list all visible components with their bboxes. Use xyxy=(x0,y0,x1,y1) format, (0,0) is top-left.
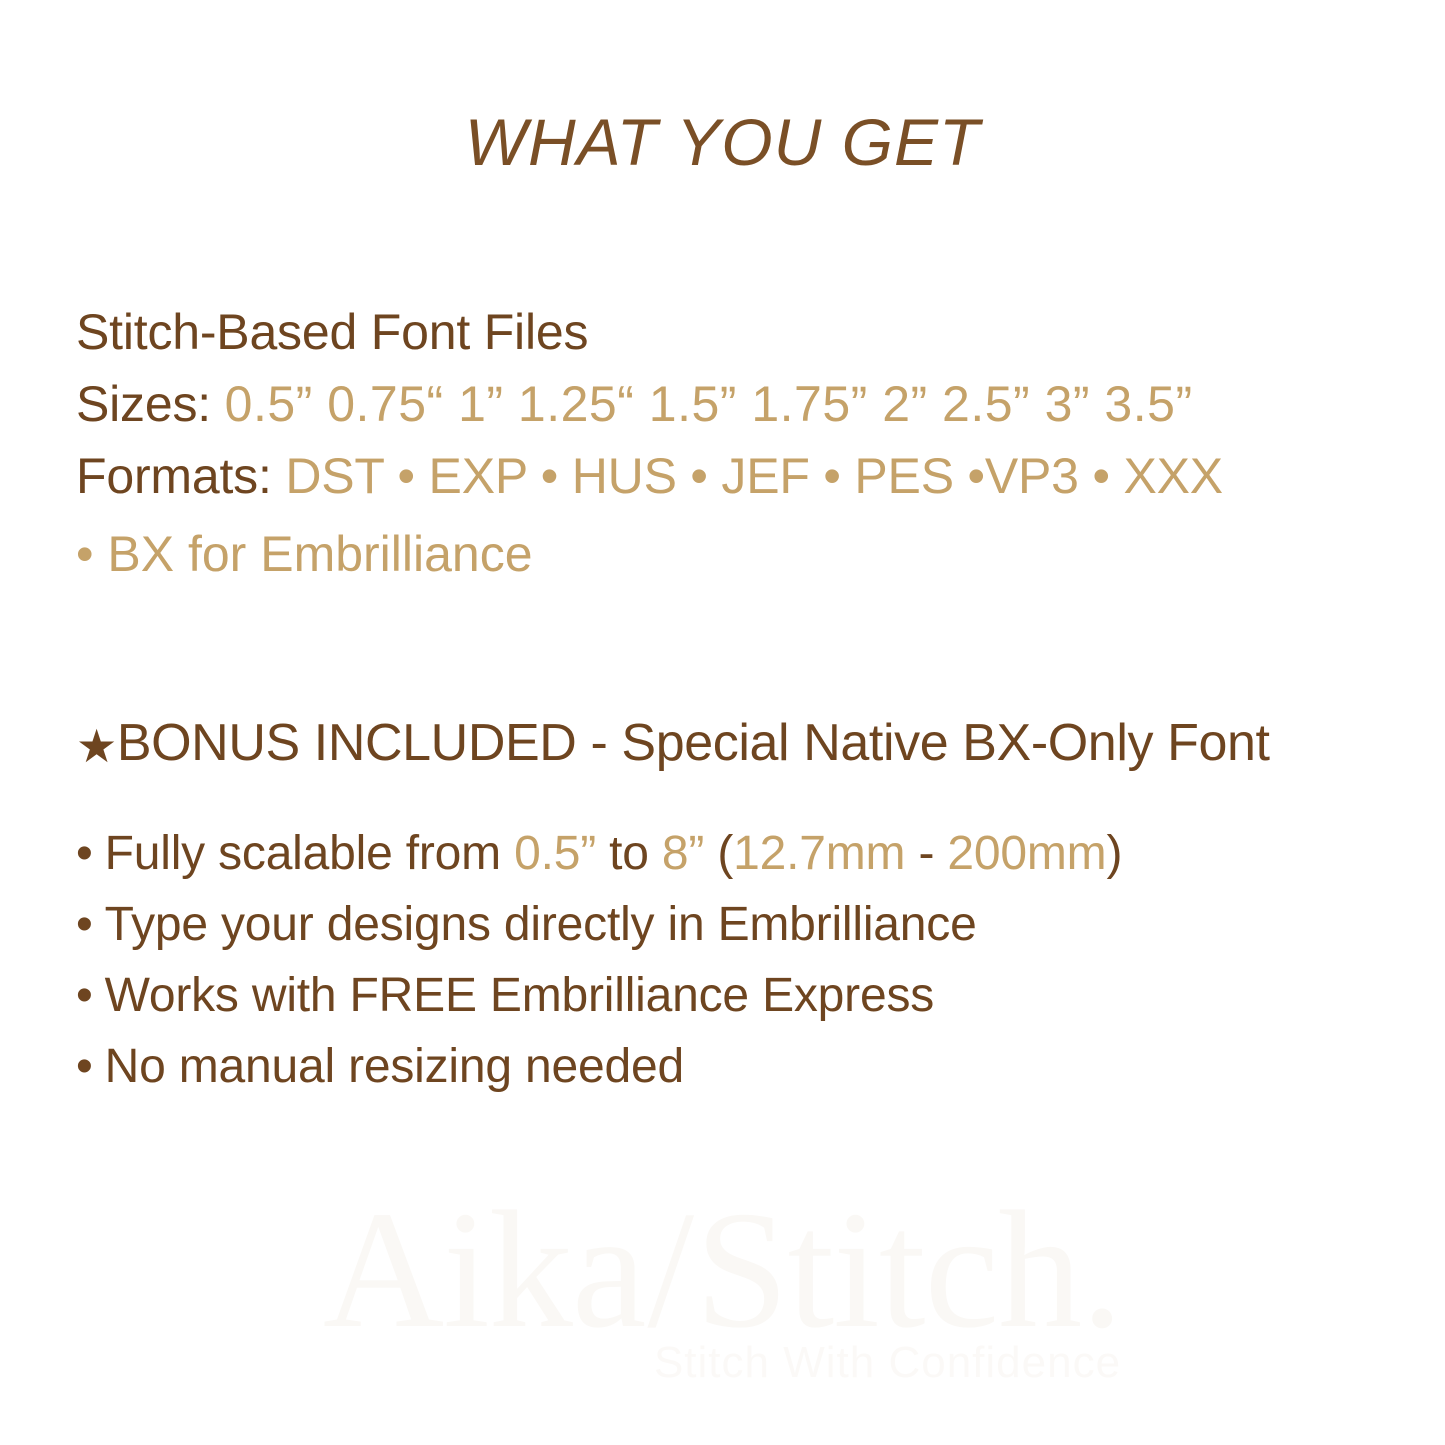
feature-size-max: 8” xyxy=(662,827,704,880)
feature-item-express: •Works with FREE Embrilliance Express xyxy=(76,960,1396,1031)
sizes-label: Sizes: xyxy=(76,376,211,432)
bonus-heading: ★BONUS INCLUDED - Special Native BX-Only… xyxy=(76,712,1270,774)
feature-text: Type your designs directly in Embrillian… xyxy=(105,898,977,951)
feature-paren-open: ( xyxy=(704,827,733,880)
needle-slash-icon: / xyxy=(645,1177,695,1363)
bx-row-text: • BX for Embrilliance xyxy=(76,526,533,582)
star-icon: ★ xyxy=(76,723,117,769)
feature-item-type-designs: •Type your designs directly in Embrillia… xyxy=(76,889,1396,960)
watermark-tagline: Stitch With Confidence xyxy=(0,1335,1445,1391)
formats-value: DST • EXP • HUS • JEF • PES •VP3 • XXX xyxy=(285,448,1223,504)
feature-size-min: 0.5” xyxy=(514,827,596,880)
feature-list: •Fully scalable from 0.5” to 8” (12.7mm … xyxy=(76,818,1396,1102)
bx-row: • BX for Embrilliance xyxy=(76,518,1376,590)
feature-mid: to xyxy=(596,827,662,880)
feature-mm-min: 12.7mm xyxy=(733,827,905,880)
feature-item-no-resizing: •No manual resizing needed xyxy=(76,1031,1396,1102)
watermark-brand-right: Stitch. xyxy=(695,1177,1122,1363)
feature-prefix: Fully scalable from xyxy=(105,827,514,880)
feature-item-scalable: •Fully scalable from 0.5” to 8” (12.7mm … xyxy=(76,818,1396,889)
formats-label: Formats: xyxy=(76,448,272,504)
bullet-icon: • xyxy=(76,898,105,951)
poster-canvas: WHAT YOU GET Stitch-Based Font Files Siz… xyxy=(0,0,1445,1445)
specs-heading: Stitch-Based Font Files xyxy=(76,296,1376,368)
formats-row: Formats: DST • EXP • HUS • JEF • PES •VP… xyxy=(76,440,1376,512)
bonus-heading-text: BONUS INCLUDED - Special Native BX-Only … xyxy=(117,714,1270,772)
feature-text: No manual resizing needed xyxy=(105,1040,684,1093)
feature-mm-max: 200mm xyxy=(947,827,1106,880)
watermark-brand: Aika/Stitch. xyxy=(0,1175,1445,1365)
feature-dash: - xyxy=(905,827,947,880)
page-title: WHAT YOU GET xyxy=(0,104,1445,180)
bullet-icon: • xyxy=(76,827,105,880)
sizes-value: 0.5” 0.75“ 1” 1.25“ 1.5” 1.75” 2” 2.5” 3… xyxy=(225,376,1193,432)
specs-block: Stitch-Based Font Files Sizes: 0.5” 0.75… xyxy=(76,296,1376,590)
feature-paren-close: ) xyxy=(1106,827,1122,880)
feature-text: Works with FREE Embrilliance Express xyxy=(105,969,934,1022)
bullet-icon: • xyxy=(76,1040,105,1093)
specs-heading-text: Stitch-Based Font Files xyxy=(76,304,588,360)
brand-watermark: Aika/Stitch. Stitch With Confidence xyxy=(0,1175,1445,1445)
sizes-row: Sizes: 0.5” 0.75“ 1” 1.25“ 1.5” 1.75” 2”… xyxy=(76,368,1376,440)
bullet-icon: • xyxy=(76,969,105,1022)
watermark-brand-left: Aika xyxy=(323,1177,646,1363)
